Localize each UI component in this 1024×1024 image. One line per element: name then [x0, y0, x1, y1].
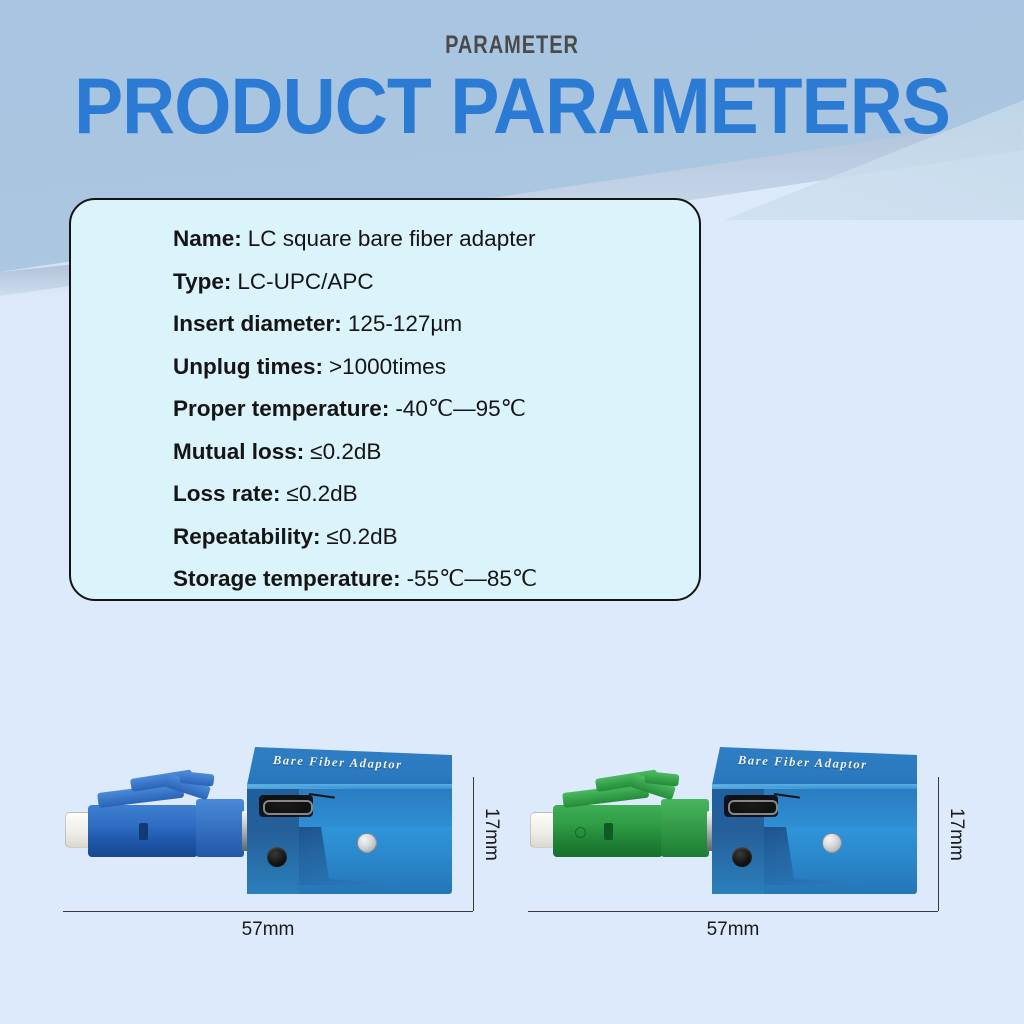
product-photo-upc: Bare Fiber Adaptor — [55, 735, 485, 900]
kicker-label: PARAMETER — [102, 31, 921, 60]
product-figure-apc: Bare Fiber Adaptor 57mm 17mm — [520, 735, 950, 950]
spec-label: Type: — [173, 269, 231, 295]
spec-value: 125-127µm — [348, 311, 462, 337]
screw-hole-icon — [732, 847, 752, 867]
spec-value: ≤0.2dB — [310, 439, 381, 465]
dimension-label-height: 17mm — [480, 808, 502, 868]
bare-fiber-adapter-body: Bare Fiber Adaptor — [247, 747, 452, 894]
spec-row: Insert diameter: 125-127µm — [173, 311, 699, 337]
keyway-slot-icon — [139, 823, 148, 840]
spec-value: >1000times — [329, 354, 446, 380]
magnet-disc-icon — [822, 833, 842, 853]
spring-clip-slot-icon — [724, 795, 778, 817]
page-header: PARAMETER PRODUCT PARAMETERS — [0, 0, 1024, 147]
spec-value: LC-UPC/APC — [237, 269, 373, 295]
spec-label: Unplug times: — [173, 354, 323, 380]
spec-row: Repeatability: ≤0.2dB — [173, 524, 699, 550]
dimension-label-length: 57mm — [183, 919, 353, 941]
magnet-disc-icon — [357, 833, 377, 853]
bare-fiber-adapter-body: Bare Fiber Adaptor — [712, 747, 917, 894]
spec-label: Mutual loss: — [173, 439, 304, 465]
spec-label: Loss rate: — [173, 481, 281, 507]
dimension-line-horizontal — [63, 911, 473, 912]
spec-row: Mutual loss: ≤0.2dB — [173, 439, 699, 465]
spec-row: Name: LC square bare fiber adapter — [173, 226, 699, 252]
spec-value: ≤0.2dB — [327, 524, 398, 550]
apc-marking-icon — [575, 827, 586, 838]
connector-collar — [661, 799, 709, 857]
spec-row: Unplug times: >1000times — [173, 354, 699, 380]
spec-value: LC square bare fiber adapter — [248, 226, 536, 252]
dimension-label-length: 57mm — [648, 919, 818, 941]
product-photo-apc: Bare Fiber Adaptor — [520, 735, 950, 900]
keyway-slot-icon — [604, 823, 613, 840]
spec-value: -55℃—85℃ — [407, 566, 538, 592]
dimension-line-vertical — [938, 777, 939, 911]
product-figure-upc: Bare Fiber Adaptor 57mm 17mm — [55, 735, 485, 950]
spec-row: Storage temperature: -55℃—85℃ — [173, 566, 699, 592]
spec-value: -40℃—95℃ — [395, 396, 526, 422]
spec-row: Loss rate: ≤0.2dB — [173, 481, 699, 507]
spec-label: Name: — [173, 226, 242, 252]
spec-row: Type: LC-UPC/APC — [173, 269, 699, 295]
dimension-line-horizontal — [528, 911, 938, 912]
spec-value: ≤0.2dB — [287, 481, 358, 507]
spec-row: Proper temperature: -40℃—95℃ — [173, 396, 699, 422]
screw-hole-icon — [267, 847, 287, 867]
specification-list: Name: LC square bare fiber adapter Type:… — [71, 200, 699, 592]
spring-clip-slot-icon — [259, 795, 313, 817]
spec-label: Storage temperature: — [173, 566, 401, 592]
specification-card: Name: LC square bare fiber adapter Type:… — [69, 198, 701, 601]
spec-label: Repeatability: — [173, 524, 321, 550]
page-title: PRODUCT PARAMETERS — [36, 66, 988, 147]
spec-label: Proper temperature: — [173, 396, 389, 422]
connector-collar — [196, 799, 244, 857]
dimension-label-height: 17mm — [945, 808, 967, 868]
spec-label: Insert diameter: — [173, 311, 342, 337]
dimension-line-vertical — [473, 777, 474, 911]
